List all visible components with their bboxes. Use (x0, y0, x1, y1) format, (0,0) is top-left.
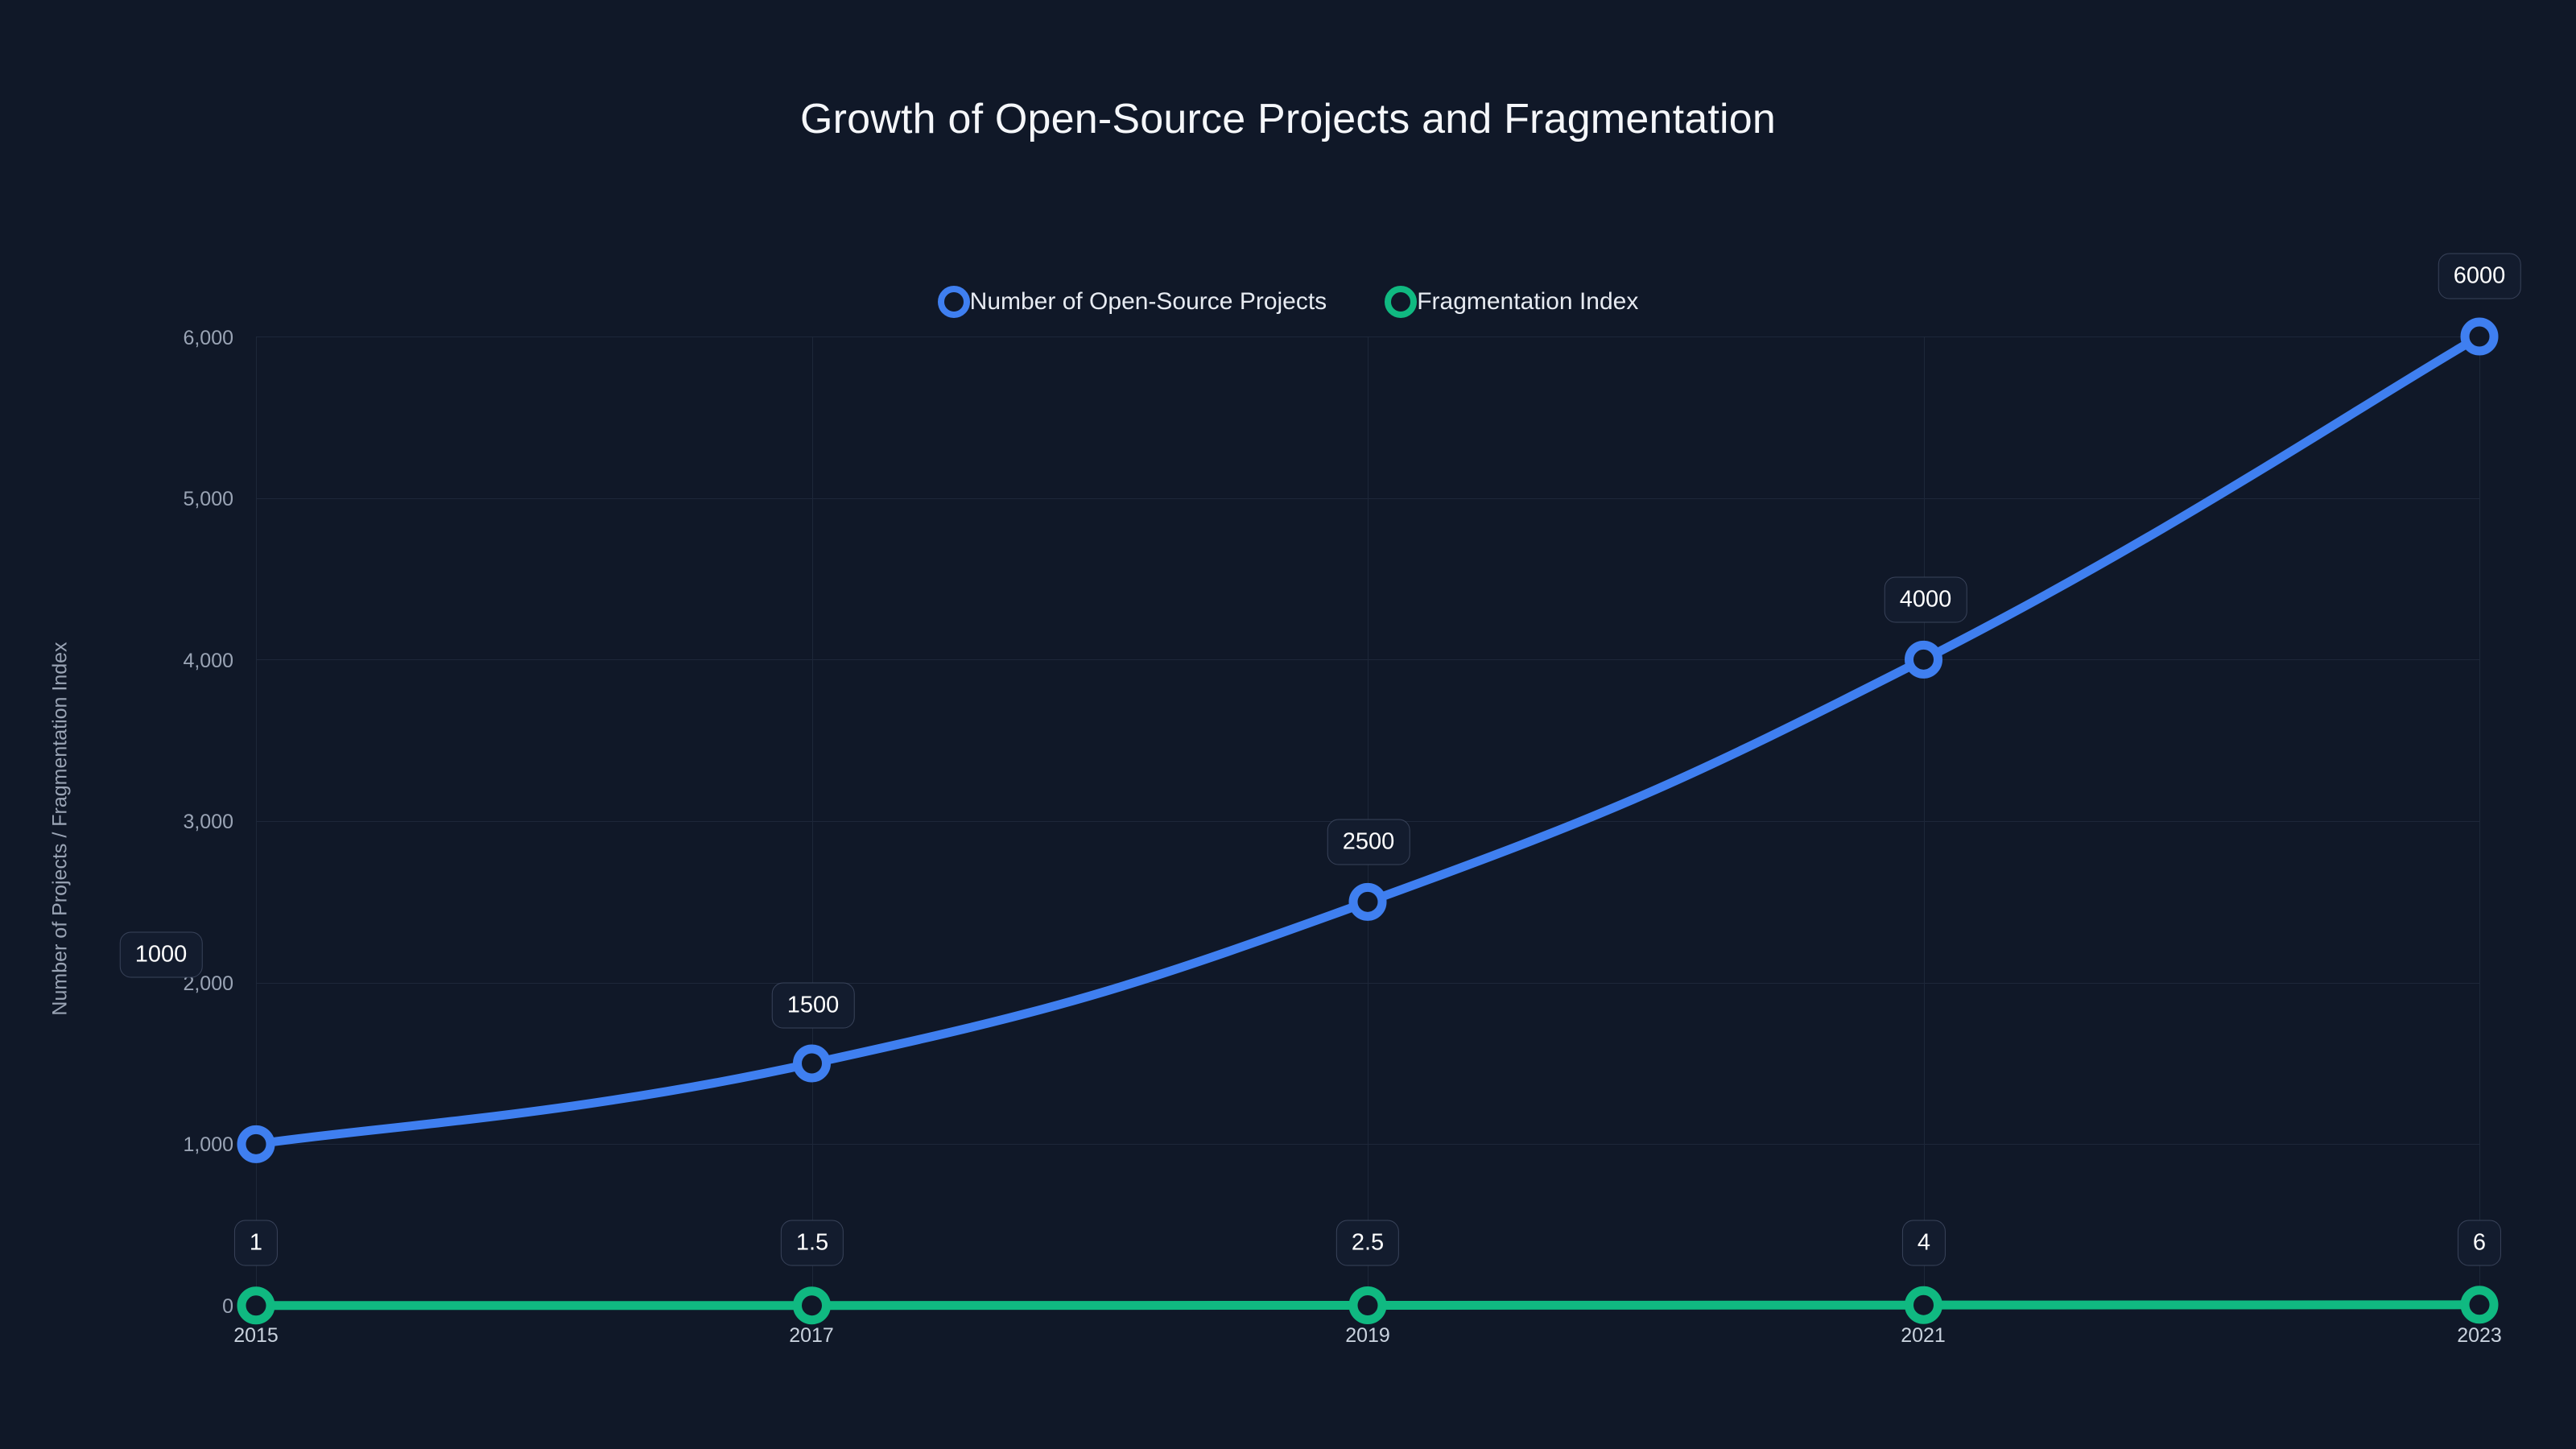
open-circle-icon (938, 286, 970, 318)
data-label-projects-2019: 2500 (1327, 819, 1410, 865)
data-point-marker[interactable] (798, 1291, 827, 1320)
data-point-marker[interactable] (1353, 887, 1382, 916)
chart-legend: Number of Open-Source Projects Fragmenta… (0, 286, 2576, 318)
markers-series-projects (242, 322, 2494, 1158)
legend-item-projects[interactable]: Number of Open-Source Projects (938, 286, 1327, 318)
data-label-fragmentation-2017: 1.5 (781, 1220, 844, 1266)
open-circle-icon (1385, 286, 1417, 318)
data-point-marker[interactable] (2465, 1290, 2494, 1319)
data-point-marker[interactable] (242, 1129, 270, 1158)
data-point-marker[interactable] (2465, 322, 2494, 351)
legend-item-fragmentation[interactable]: Fragmentation Index (1385, 286, 1638, 318)
data-label-projects-2017: 1500 (772, 983, 855, 1029)
data-label-projects-2021: 4000 (1885, 577, 1967, 623)
data-point-marker[interactable] (1909, 645, 1938, 674)
data-point-marker[interactable] (1353, 1290, 1382, 1319)
legend-label-projects: Number of Open-Source Projects (970, 288, 1327, 316)
chart-container: Growth of Open-Source Projects and Fragm… (0, 0, 2576, 1449)
line-series-projects (256, 336, 2479, 1144)
data-point-marker[interactable] (1909, 1290, 1938, 1319)
data-label-fragmentation-2015: 1 (234, 1220, 278, 1266)
series-plot (0, 0, 2576, 1449)
data-point-marker[interactable] (242, 1291, 270, 1320)
data-label-fragmentation-2021: 4 (1902, 1220, 1946, 1266)
data-label-projects-2015: 1000 (120, 932, 203, 978)
data-label-fragmentation-2023: 6 (2458, 1220, 2501, 1266)
data-label-fragmentation-2019: 2.5 (1336, 1220, 1399, 1266)
legend-label-fragmentation: Fragmentation Index (1417, 288, 1638, 316)
data-point-marker[interactable] (798, 1049, 827, 1078)
